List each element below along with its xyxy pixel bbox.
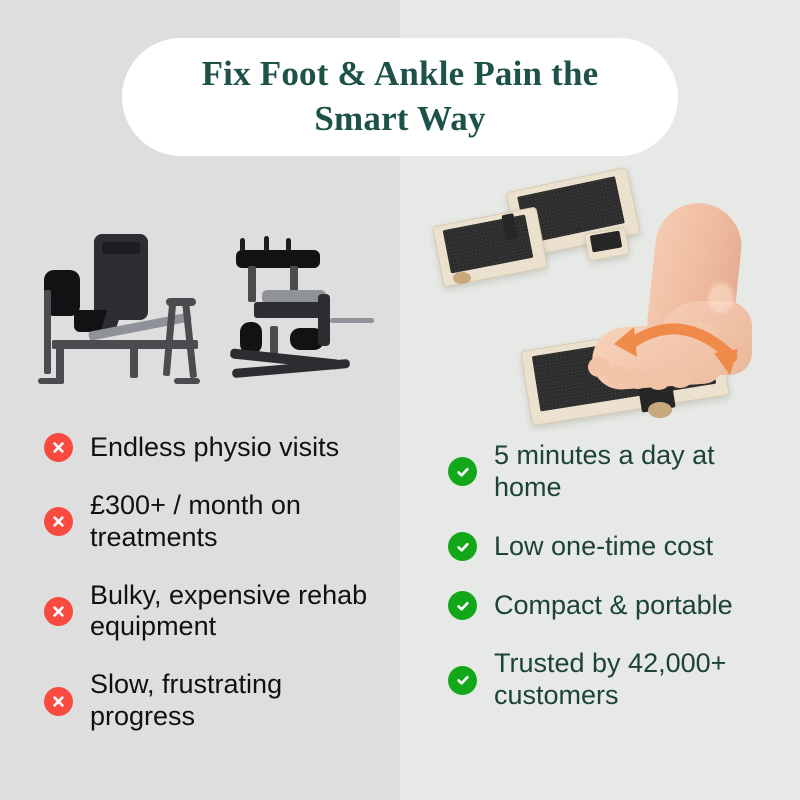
- leg-press-machine-image: [26, 228, 212, 388]
- pain-points-list: Endless physio visits £300+ / month on t…: [44, 432, 392, 759]
- circle-x-icon: [44, 433, 73, 462]
- circle-check-icon: [448, 532, 477, 561]
- list-item-label: Endless physio visits: [90, 432, 339, 464]
- list-item-label: Low one-time cost: [494, 531, 713, 563]
- list-item: Slow, frustrating progress: [44, 669, 392, 733]
- circle-x-icon: [44, 507, 73, 536]
- circle-x-icon: [44, 597, 73, 626]
- list-item: Endless physio visits: [44, 432, 392, 464]
- headline-line-2: Smart Way: [314, 99, 485, 138]
- foot-on-board-image: [600, 205, 790, 420]
- imagery-row: [0, 160, 800, 430]
- headline-line-1: Fix Foot & Ankle Pain the: [202, 54, 599, 93]
- list-item: Compact & portable: [448, 590, 778, 622]
- list-item-label: Compact & portable: [494, 590, 733, 622]
- circle-check-icon: [448, 666, 477, 695]
- comparison-poster: Fix Foot & Ankle Pain the Smart Way Endl…: [0, 0, 800, 800]
- list-item-label: Bulky, expensive rehab equipment: [90, 580, 392, 644]
- circle-check-icon: [448, 591, 477, 620]
- list-item: Bulky, expensive rehab equipment: [44, 580, 392, 644]
- benefits-list: 5 minutes a day at home Low one-time cos…: [448, 440, 778, 739]
- list-item: Trusted by 42,000+ customers: [448, 648, 778, 712]
- circle-check-icon: [448, 457, 477, 486]
- list-item-label: Trusted by 42,000+ customers: [494, 648, 778, 712]
- page-title: Fix Foot & Ankle Pain the Smart Way: [176, 52, 625, 142]
- list-item: Low one-time cost: [448, 531, 778, 563]
- list-item-label: 5 minutes a day at home: [494, 440, 778, 504]
- rocking-motion-arrow: [610, 313, 760, 383]
- list-item: £300+ / month on treatments: [44, 490, 392, 554]
- headline-pill: Fix Foot & Ankle Pain the Smart Way: [122, 38, 678, 156]
- list-item: 5 minutes a day at home: [448, 440, 778, 504]
- leg-curl-machine-image: [206, 218, 388, 390]
- list-item-label: £300+ / month on treatments: [90, 490, 392, 554]
- list-item-label: Slow, frustrating progress: [90, 669, 392, 733]
- circle-x-icon: [44, 687, 73, 716]
